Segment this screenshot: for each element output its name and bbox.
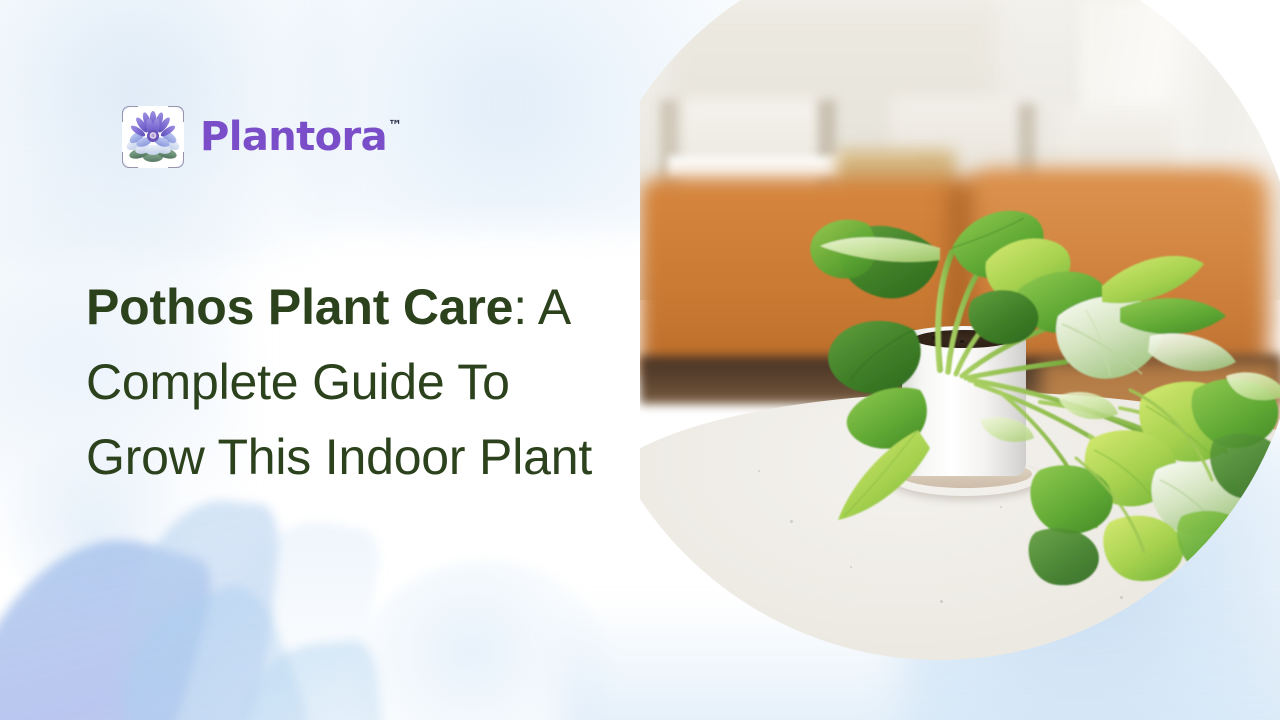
table-speck xyxy=(758,470,760,472)
page-title: Pothos Plant Care: A Complete Guide To G… xyxy=(86,270,606,495)
brand-logo[interactable]: Plantora ™ xyxy=(122,106,402,168)
brand-name: Plantora xyxy=(200,117,387,157)
lotus-glyph xyxy=(126,109,180,165)
watercolor-leaf-2 xyxy=(103,491,284,720)
watercolor-leaf-1 xyxy=(0,507,221,720)
watercolor-leaf-4 xyxy=(88,575,349,720)
lotus-flower-scan-icon xyxy=(122,106,184,168)
hero-image xyxy=(640,0,1280,720)
brand-wordmark: Plantora ™ xyxy=(200,117,402,157)
pothos-plant xyxy=(790,140,1280,600)
blog-hero-banner: Plantora ™ Pothos Plant Care: A Complete… xyxy=(0,0,1280,720)
watercolor-leaf-5 xyxy=(224,638,395,720)
watercolor-blob-center xyxy=(355,560,615,720)
trademark-symbol: ™ xyxy=(388,119,402,133)
page-title-bold: Pothos Plant Care xyxy=(86,279,513,335)
hero-image-content xyxy=(640,0,1280,720)
watercolor-leaf-3 xyxy=(215,509,384,711)
table-speck xyxy=(940,600,943,603)
